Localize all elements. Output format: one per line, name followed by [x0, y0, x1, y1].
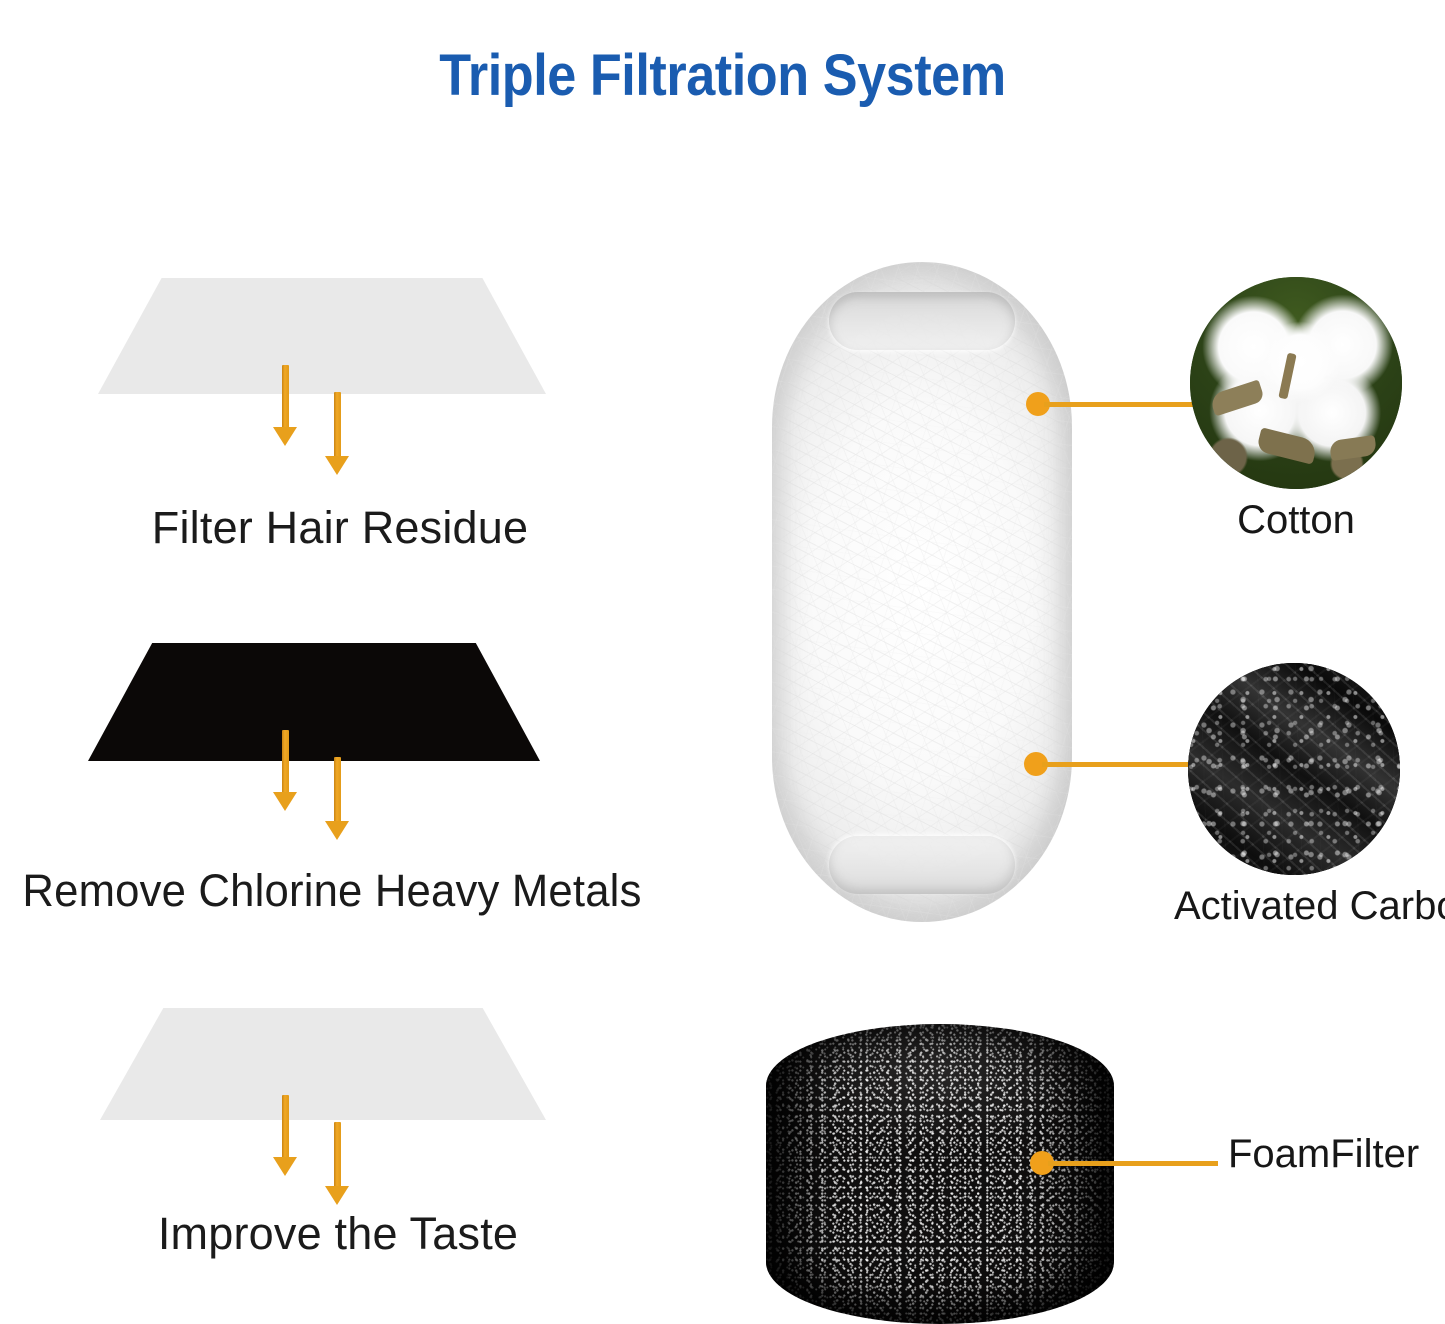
step-label-improve-the-taste: Improve the Taste — [0, 1208, 688, 1260]
cotton-boll-photo — [1190, 277, 1402, 489]
cartridge-groove-top — [829, 292, 1015, 350]
cotton-fiber-texture — [772, 262, 1072, 922]
filter-sheet-light-1 — [98, 278, 546, 394]
filter-sheet-light-2 — [100, 1008, 546, 1120]
filter-sheet-wrap — [0, 635, 700, 800]
activated-carbon-granules-photo — [1188, 663, 1400, 875]
cartridge-groove-bottom — [829, 836, 1015, 894]
callout-label-activated-carbon: Activated Carbon — [1174, 884, 1445, 929]
callout-label-foam-filter: FoamFilter — [1228, 1132, 1419, 1177]
callout-line — [1042, 762, 1200, 767]
filtration-step-filter-hair-residue: Filter Hair Residue — [0, 270, 700, 435]
page-title: Triple Filtration System — [72, 41, 1373, 111]
callout-leader-cotton — [1026, 392, 1202, 416]
callout-line — [1044, 402, 1202, 407]
filter-cartridge-image — [772, 262, 1072, 922]
step-label-remove-chlorine-heavy-metals: Remove Chlorine Heavy Metals — [0, 865, 672, 917]
filter-sheet-carbon — [88, 643, 540, 761]
callout-leader-foam-filter — [1030, 1151, 1218, 1175]
filter-sheet-wrap — [0, 270, 700, 435]
filtration-step-improve-the-taste: Improve the Taste — [0, 1000, 700, 1165]
filter-sheet-wrap — [0, 1000, 700, 1165]
callout-line — [1048, 1161, 1218, 1166]
step-label-filter-hair-residue: Filter Hair Residue — [0, 502, 690, 554]
callout-label-cotton: Cotton — [1190, 498, 1402, 543]
filtration-step-remove-chlorine-heavy-metals: Remove Chlorine Heavy Metals — [0, 635, 700, 800]
callout-leader-activated-carbon — [1024, 752, 1200, 776]
